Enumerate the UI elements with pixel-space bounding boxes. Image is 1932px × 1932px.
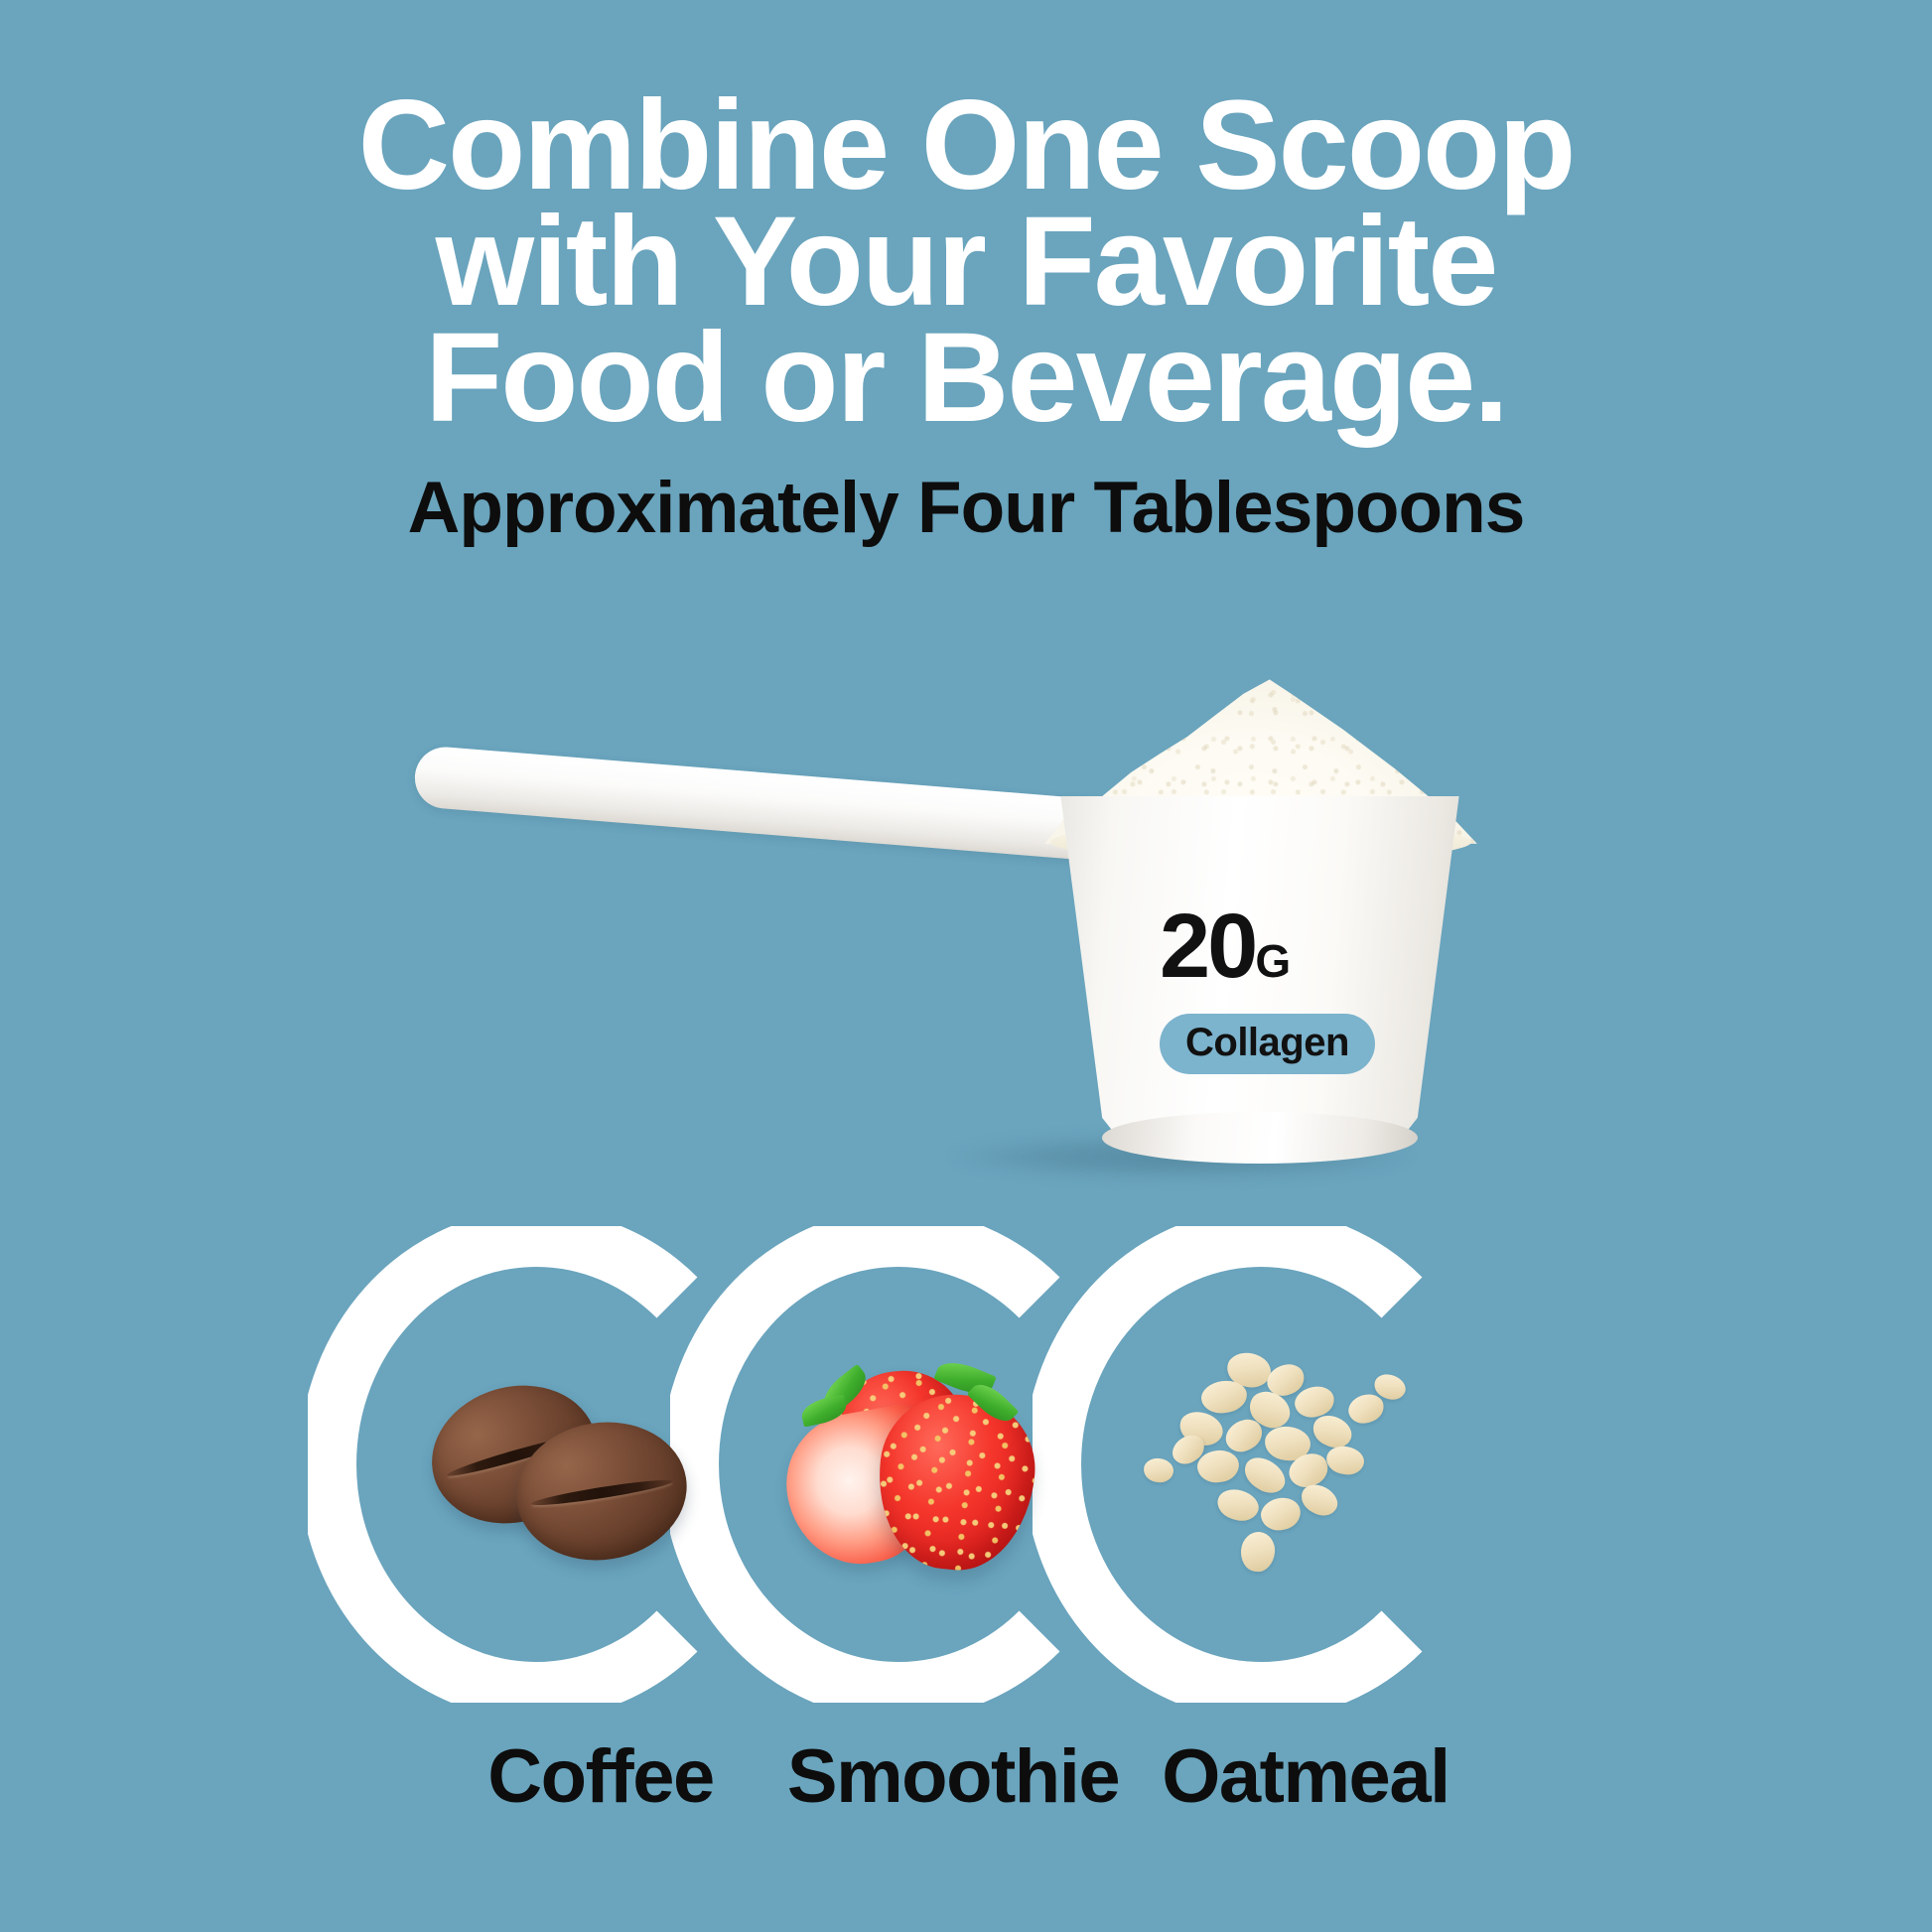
headline-line-2: with Your Favorite: [0, 204, 1932, 320]
collagen-amount-value: 20: [1160, 896, 1255, 997]
headline-line-1: Combine One Scoop: [0, 87, 1932, 204]
coffee-bean-crease: [530, 1476, 673, 1509]
page-subtitle: Approximately Four Tablespoons: [0, 436, 1932, 547]
infographic-canvas: Combine One Scoop with Your Favorite Foo…: [0, 0, 1932, 1932]
option-label-oatmeal: Oatmeal: [1057, 1729, 1554, 1825]
option-ring-coffee[interactable]: [308, 1226, 804, 1703]
strawberries-icon: [787, 1351, 1045, 1580]
collagen-amount: 20G: [1160, 903, 1418, 1004]
rolled-oats-icon: [1150, 1351, 1408, 1580]
scoop-handle: [413, 745, 1101, 861]
headline-line-3: Food or Beverage.: [0, 320, 1932, 436]
serving-options-labels: Coffee Smoothie Oatmeal: [308, 1729, 1638, 1839]
collagen-amount-unit: G: [1255, 935, 1290, 987]
scoop-illustration: 20G Collagen: [0, 685, 1932, 1241]
serving-options-rings: [308, 1226, 1638, 1703]
page-title: Combine One Scoop with Your Favorite Foo…: [0, 87, 1932, 436]
headline-block: Combine One Scoop with Your Favorite Foo…: [0, 87, 1932, 547]
scoop-cup-base: [1102, 1112, 1418, 1164]
scoop-nutrition-badge: 20G Collagen: [1160, 903, 1418, 1074]
coffee-beans-icon: [425, 1351, 683, 1580]
collagen-pill-label: Collagen: [1160, 1014, 1375, 1074]
